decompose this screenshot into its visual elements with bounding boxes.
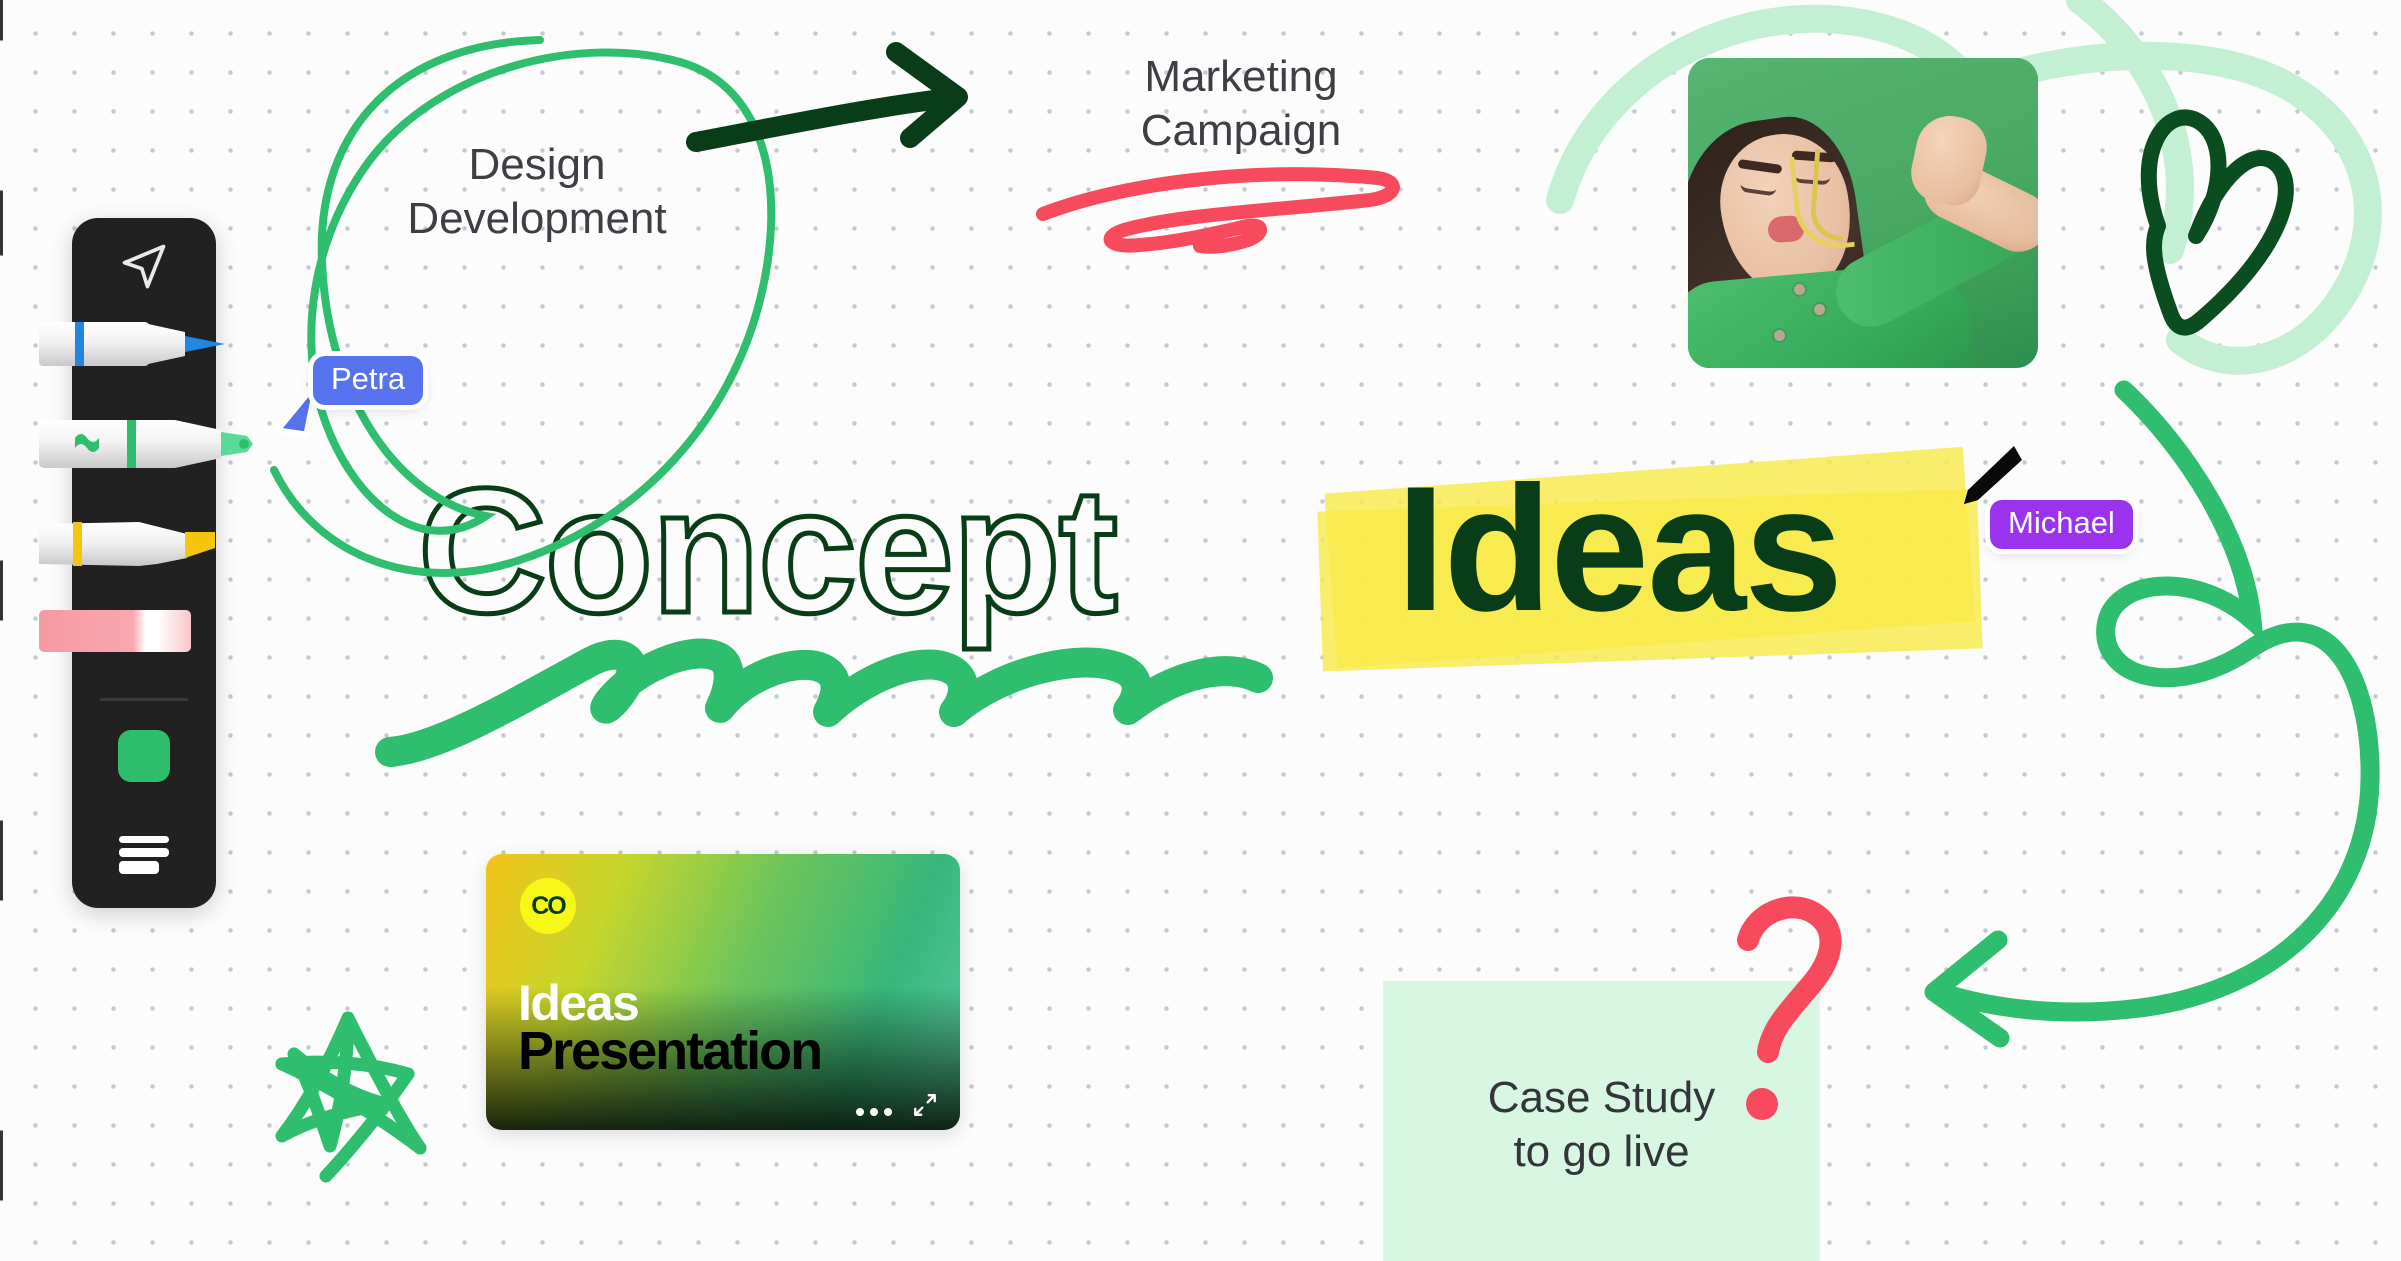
- photo-button-1: [1774, 330, 1785, 341]
- cursor-label-petra: Petra: [313, 356, 423, 405]
- photo-button-3: [1814, 304, 1825, 315]
- photo-card[interactable]: [1688, 58, 2038, 368]
- stroke-width-icon[interactable]: [119, 836, 169, 874]
- window-edge-line: [0, 0, 3, 1261]
- title-word-ideas[interactable]: Ideas: [1396, 460, 1841, 638]
- more-options-icon[interactable]: [856, 1108, 892, 1116]
- color-swatch-green[interactable]: [118, 730, 170, 782]
- hand-drawn-star-icon: [282, 1018, 420, 1176]
- pen-icon[interactable]: [39, 314, 249, 366]
- brand-logo: CO: [520, 878, 576, 934]
- doodle-layer-front: [0, 0, 2401, 1261]
- eraser-icon[interactable]: [39, 606, 219, 658]
- hand-drawn-arrow-icon: [696, 52, 958, 142]
- highlighter-icon[interactable]: [39, 514, 249, 566]
- sticky-note-text: Case Study to go live: [1383, 1071, 1820, 1178]
- sticky-note-case-study[interactable]: Case Study to go live: [1383, 981, 1820, 1261]
- note-marketing-campaign[interactable]: Marketing Campaign: [1086, 50, 1396, 157]
- photo-button-2: [1794, 284, 1805, 295]
- whiteboard-canvas[interactable]: Concept Ideas Case Study to go live CO I…: [0, 0, 2401, 1261]
- doodle-layer-back: [0, 0, 2401, 1261]
- title-word-concept[interactable]: Concept: [418, 462, 1116, 640]
- presentation-card-title-line2: Presentation: [518, 1024, 821, 1078]
- cursor-label-michael: Michael: [1990, 500, 2133, 549]
- photo-noodle-strand-2: [1809, 149, 1849, 241]
- presentation-card[interactable]: CO Ideas Presentation: [486, 854, 960, 1130]
- hand-drawn-swoosh-icon: [1043, 174, 1393, 247]
- cursor-arrow-icon[interactable]: [118, 240, 170, 292]
- marker-icon[interactable]: [39, 414, 279, 466]
- note-design-development[interactable]: Design Development: [372, 138, 702, 245]
- hand-drawn-zigzag-icon: [390, 654, 1258, 752]
- expand-icon[interactable]: [912, 1092, 938, 1118]
- toolbar-divider: [100, 698, 188, 701]
- hand-drawn-heart-icon: [2149, 117, 2286, 327]
- drawing-toolbar[interactable]: [72, 218, 216, 908]
